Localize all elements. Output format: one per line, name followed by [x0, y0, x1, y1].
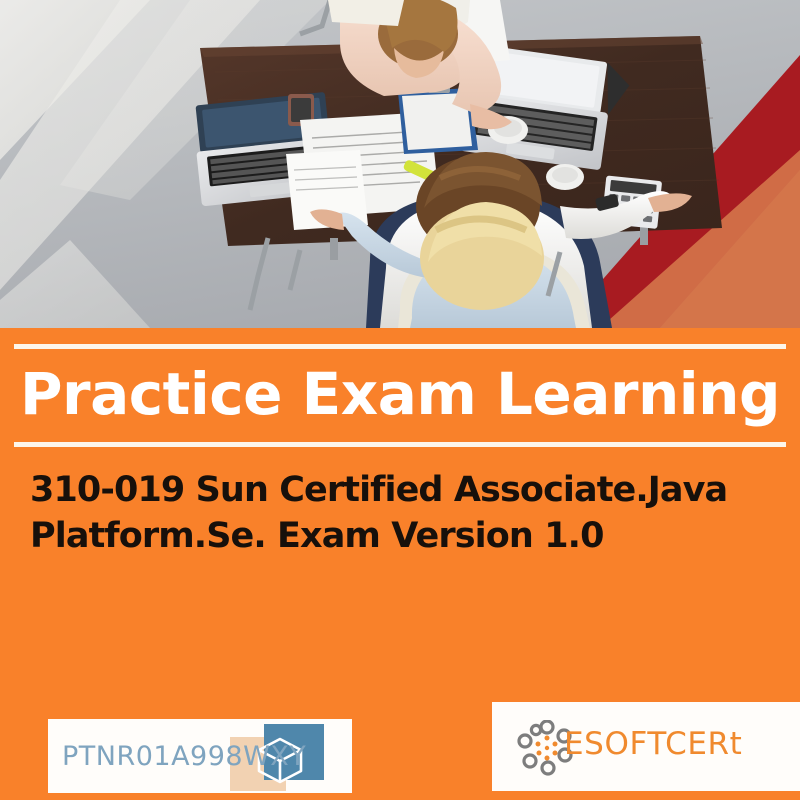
- header-photo: [0, 0, 800, 328]
- exam-subtitle: 310-019 Sun Certified Associate.Java Pla…: [30, 468, 770, 559]
- ptnr-logo-card: PTNR01A998WXY: [48, 719, 352, 793]
- exam-subtitle-line-2: Platform.Se. Exam Version 1.0: [30, 514, 770, 560]
- poster-root: Practice Exam Learning 310-019 Sun Certi…: [0, 0, 800, 800]
- header-photo-illustration: [0, 0, 800, 328]
- divider-bottom: [14, 442, 786, 447]
- esoftcert-logo-card: ESOFTCERt: [492, 702, 800, 791]
- page-title: Practice Exam Learning: [0, 350, 800, 438]
- ptnr-logo-text: PTNR01A998WXY: [62, 741, 306, 772]
- exam-subtitle-line-1: 310-019 Sun Certified Associate.Java: [30, 468, 770, 514]
- divider-top: [14, 344, 786, 349]
- ptnr-logo-inner: PTNR01A998WXY: [48, 719, 352, 793]
- esoftcert-logo-text: ESOFTCERt: [564, 726, 742, 762]
